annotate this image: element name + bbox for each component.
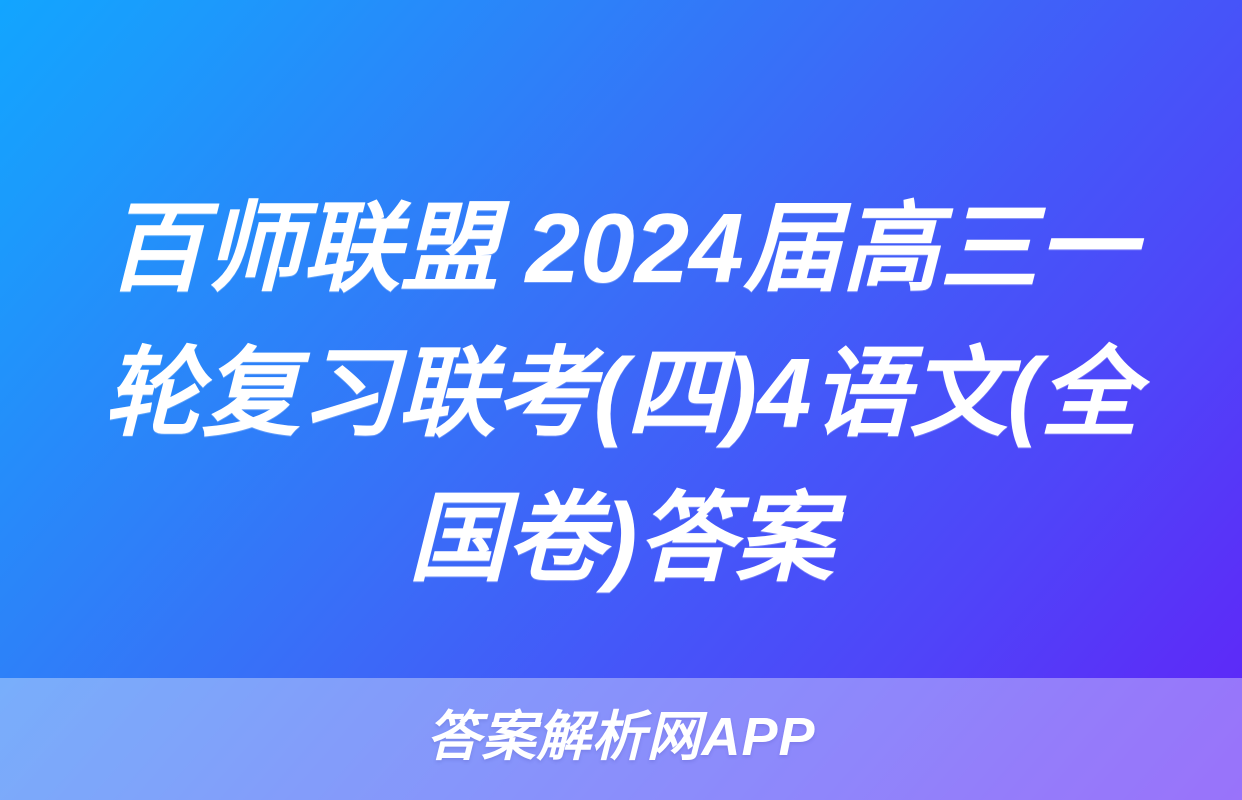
poster-canvas: 百师联盟 2024届高三一 轮复习联考(四)4语文(全 国卷)答案 答案解析网A… xyxy=(0,0,1242,800)
title-line-2: 轮复习联考(四)4语文(全 xyxy=(72,321,1170,466)
app-watermark-label: 答案解析网APP xyxy=(426,710,815,764)
title-line-3: 国卷)答案 xyxy=(72,466,1170,611)
title-line-1: 百师联盟 2024届高三一 xyxy=(72,176,1170,321)
watermark-band: 答案解析网APP xyxy=(0,678,1242,800)
page-title: 百师联盟 2024届高三一 轮复习联考(四)4语文(全 国卷)答案 xyxy=(0,176,1242,611)
